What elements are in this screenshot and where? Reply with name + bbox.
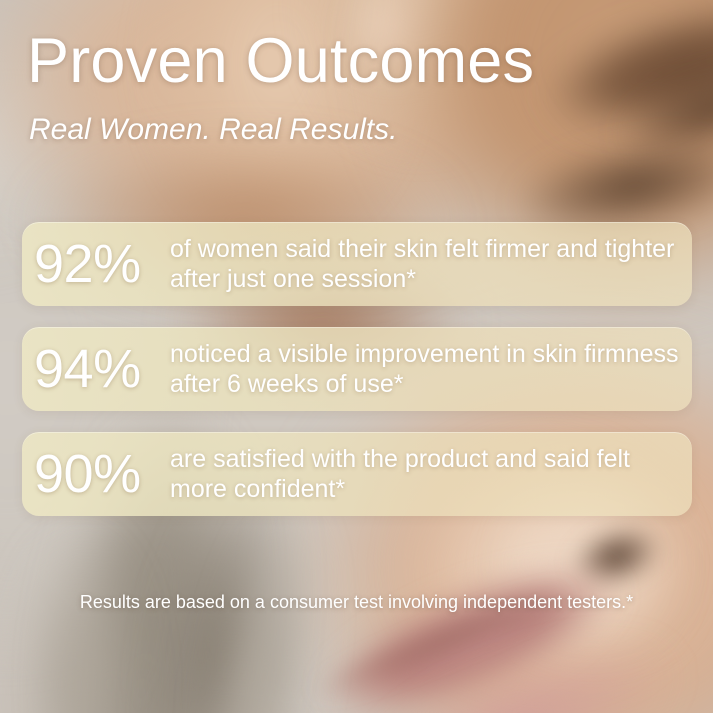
stat-card: 90% are satisfied with the product and s…: [22, 432, 692, 516]
stat-description: noticed a visible improvement in skin fi…: [170, 339, 692, 400]
stat-card: 92% of women said their skin felt firmer…: [22, 222, 692, 306]
stat-value: 90%: [22, 447, 170, 501]
stat-value: 94%: [22, 342, 170, 396]
stat-card: 94% noticed a visible improvement in ski…: [22, 327, 692, 411]
stat-value: 92%: [22, 237, 170, 291]
promo-poster: Proven Outcomes Real Women. Real Results…: [0, 0, 713, 713]
page-subtitle: Real Women. Real Results.: [29, 112, 397, 148]
stat-description: are satisfied with the product and said …: [170, 444, 692, 505]
stats-list: 92% of women said their skin felt firmer…: [22, 222, 692, 537]
poster-content: Proven Outcomes Real Women. Real Results…: [0, 0, 713, 713]
stat-description: of women said their skin felt firmer and…: [170, 234, 692, 295]
disclaimer-text: Results are based on a consumer test inv…: [0, 592, 713, 613]
page-title: Proven Outcomes: [27, 28, 534, 94]
